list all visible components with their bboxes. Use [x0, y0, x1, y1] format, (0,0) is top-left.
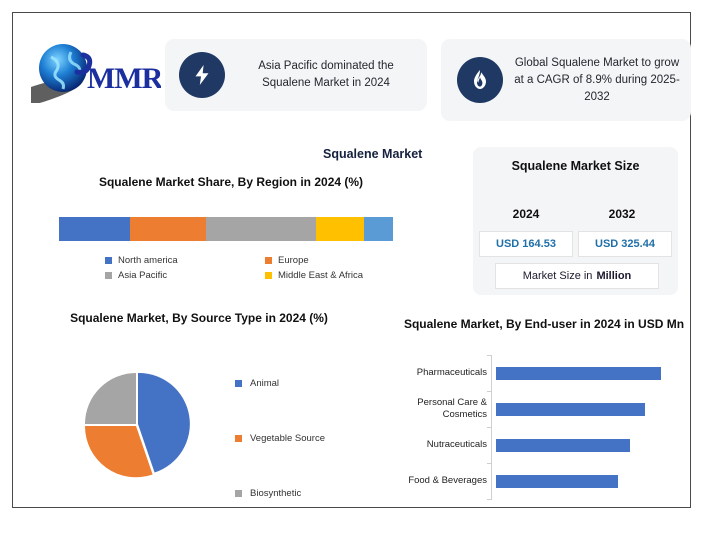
legend-label-biosynthetic: Biosynthetic	[250, 488, 301, 499]
market-size-title: Squalene Market Size	[473, 157, 678, 175]
legend-item-middle-east-africa: Middle East & Africa	[265, 270, 425, 281]
legend-swatch-north-america	[105, 257, 112, 264]
legend-label-europe: Europe	[278, 255, 309, 266]
pie-slice-biosynthetic	[85, 373, 136, 424]
axis-tick	[487, 499, 491, 500]
legend-swatch-animal	[235, 380, 242, 387]
region-stacked-bar	[59, 217, 393, 241]
infographic-frame: MMR Asia Pacific dominated the Squalene …	[12, 12, 691, 508]
market-size-card: Squalene Market Size 2024 2032 USD 164.5…	[473, 147, 678, 295]
legend-item-north-america: North america	[105, 255, 265, 266]
flame-icon	[457, 57, 503, 103]
source-type-legend: Animal Vegetable Source Biosynthetic	[235, 376, 325, 541]
market-size-unit-value: Million	[596, 270, 631, 282]
bar-label-food-beverages: Food & Beverages	[393, 475, 492, 487]
bar-segment-middle-east-africa	[316, 217, 364, 241]
highlight-text-region: Asia Pacific dominated the Squalene Mark…	[225, 58, 427, 92]
end-user-bar-chart: Pharmaceuticals Personal Care & Cosmetic…	[393, 355, 683, 500]
svg-text:MMR: MMR	[87, 62, 161, 95]
mmr-logo: MMR	[31, 41, 161, 103]
bar-row-personal-care-cosmetics: Personal Care & Cosmetics	[393, 394, 683, 424]
bar-segment-asia-pacific	[206, 217, 316, 241]
legend-swatch-vegetable-source	[235, 435, 242, 442]
region-chart-title: Squalene Market Share, By Region in 2024…	[53, 173, 409, 191]
highlight-card-region: Asia Pacific dominated the Squalene Mark…	[165, 39, 427, 111]
highlight-card-cagr: Global Squalene Market to grow at a CAGR…	[441, 39, 691, 121]
end-user-chart-title: Squalene Market, By End-user in 2024 in …	[401, 315, 687, 333]
bar-food-beverages	[496, 475, 618, 488]
bar-nutraceuticals	[496, 439, 630, 452]
highlight-text-cagr: Global Squalene Market to grow at a CAGR…	[503, 55, 691, 106]
market-size-value-2024: USD 164.53	[479, 231, 573, 257]
bar-row-pharmaceuticals: Pharmaceuticals	[393, 358, 683, 388]
axis-tick	[487, 427, 491, 428]
legend-item-animal: Animal	[235, 376, 325, 390]
legend-swatch-europe	[265, 257, 272, 264]
legend-swatch-middle-east-africa	[265, 272, 272, 279]
bar-label-nutraceuticals: Nutraceuticals	[393, 439, 492, 451]
legend-label-middle-east-africa: Middle East & Africa	[278, 270, 363, 281]
bar-pharmaceuticals	[496, 367, 661, 380]
page-title: Squalene Market	[323, 147, 422, 161]
legend-label-vegetable-source: Vegetable Source	[250, 433, 325, 444]
axis-tick	[487, 391, 491, 392]
market-size-year-2024: 2024	[481, 207, 571, 221]
bar-row-nutraceuticals: Nutraceuticals	[393, 430, 683, 460]
legend-swatch-asia-pacific	[105, 272, 112, 279]
region-legend: North america Europe Asia Pacific Middle…	[105, 253, 425, 283]
legend-item-vegetable-source: Vegetable Source	[235, 431, 325, 445]
bolt-icon	[179, 52, 225, 98]
axis-tick	[487, 463, 491, 464]
legend-item-europe: Europe	[265, 255, 425, 266]
legend-item-asia-pacific: Asia Pacific	[105, 270, 265, 281]
legend-label-north-america: North america	[118, 255, 178, 266]
source-type-pie-chart	[75, 363, 199, 487]
bar-segment-latin-america	[364, 217, 393, 241]
bar-personal-care-cosmetics	[496, 403, 645, 416]
bar-label-pharmaceuticals: Pharmaceuticals	[393, 367, 492, 379]
market-size-unit: Market Size in Million	[495, 263, 659, 289]
bar-segment-europe	[130, 217, 206, 241]
legend-item-biosynthetic: Biosynthetic	[235, 486, 325, 500]
legend-label-asia-pacific: Asia Pacific	[118, 270, 167, 281]
legend-swatch-biosynthetic	[235, 490, 242, 497]
axis-tick	[487, 355, 491, 356]
bar-label-personal-care-cosmetics: Personal Care & Cosmetics	[393, 397, 492, 421]
bar-row-food-beverages: Food & Beverages	[393, 466, 683, 496]
market-size-value-2032: USD 325.44	[578, 231, 672, 257]
source-type-chart-title: Squalene Market, By Source Type in 2024 …	[49, 309, 349, 327]
market-size-unit-prefix: Market Size in	[523, 270, 593, 282]
bar-segment-north-america	[59, 217, 130, 241]
market-size-year-2032: 2032	[577, 207, 667, 221]
legend-label-animal: Animal	[250, 378, 279, 389]
